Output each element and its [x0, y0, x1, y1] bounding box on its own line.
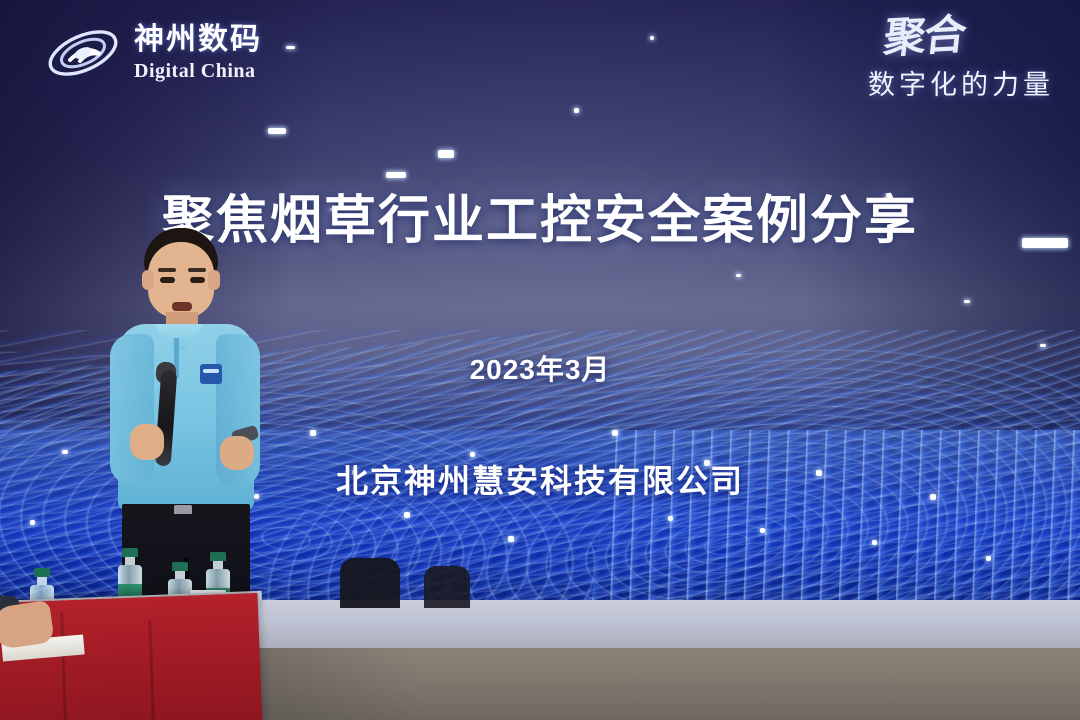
bottle-neck: [213, 561, 223, 569]
light-particle: [760, 528, 765, 533]
light-particle: [30, 520, 35, 525]
bottle-cap: [34, 568, 50, 577]
light-particle: [872, 540, 877, 545]
light-particle: [310, 430, 316, 436]
light-particle: [964, 300, 970, 303]
event-subtitle: 数字化的力量: [868, 63, 1054, 102]
light-particle: [508, 536, 514, 542]
digital-china-logo: 神州数码 Digital China: [44, 22, 262, 84]
bottle-neck: [125, 557, 135, 565]
light-particle: [268, 128, 286, 134]
brand-english-name: Digital China: [134, 61, 262, 81]
presenter-mouth: [172, 302, 192, 311]
bottle-neck: [175, 571, 185, 579]
presenter-hand-right: [220, 436, 254, 470]
presentation-photo: 神州数码 Digital China 聚合 数字化的力量 聚焦烟草行业工控安全案…: [0, 0, 1080, 720]
shirt-chest-logo-icon: [200, 364, 222, 384]
audience-silhouette: [424, 566, 470, 608]
event-calligraphy: 聚合: [866, 16, 967, 60]
audience-silhouette: [340, 558, 400, 608]
presenter-eye-right: [190, 277, 205, 283]
event-theme-logo: 聚合 数字化的力量: [868, 18, 1054, 102]
light-particle: [404, 512, 410, 518]
light-particle: [650, 36, 654, 40]
bottle-neck: [37, 577, 47, 585]
brand-chinese-name: 神州数码: [134, 25, 262, 55]
light-particle: [1040, 344, 1046, 347]
presenter-ear-left: [142, 270, 154, 290]
presenter-arm-left: [110, 334, 154, 484]
bottle-cap: [210, 552, 226, 561]
digital-china-wordmark: 神州数码 Digital China: [134, 25, 262, 81]
presenter-eye-left: [160, 277, 175, 283]
light-particle: [286, 46, 295, 49]
presenter-brow-right: [188, 268, 206, 272]
light-particle: [736, 274, 741, 277]
light-particle: [668, 516, 673, 521]
light-particle: [574, 108, 579, 113]
bottle-cap: [122, 548, 138, 557]
presenter-brow-left: [158, 268, 176, 272]
presenter-ear-right: [208, 270, 220, 290]
light-particle: [986, 556, 991, 561]
bottle-cap: [172, 562, 188, 571]
light-particle: [62, 450, 68, 454]
presenter-hand-left: [130, 424, 164, 460]
light-particle: [438, 150, 454, 158]
orbit-swirl-icon: [44, 22, 122, 84]
light-particle: [612, 430, 618, 436]
